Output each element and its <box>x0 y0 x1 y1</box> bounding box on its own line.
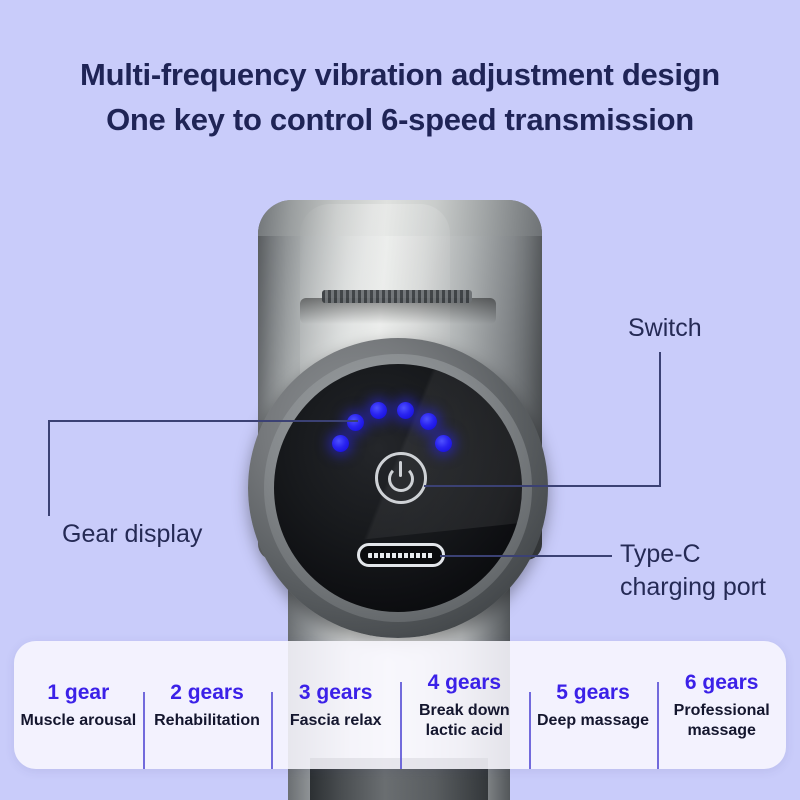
power-button[interactable] <box>375 452 427 504</box>
gear-desc-1: Muscle arousal <box>18 711 139 731</box>
leader-typec-horizontal <box>440 555 612 557</box>
device-barrel-top-rim <box>258 200 542 236</box>
gear-number-6: 6 gears <box>661 670 782 696</box>
gear-item-5: 5 gears Deep massage <box>529 680 658 731</box>
product-infographic: Multi-frequency vibration adjustment des… <box>0 0 800 800</box>
leader-gear-display-vertical <box>48 420 50 516</box>
leader-switch-horizontal <box>424 485 661 487</box>
gear-number-2: 2 gears <box>147 680 268 706</box>
gear-led-1 <box>332 435 349 452</box>
gear-item-6: 6 gears Professionalmassage <box>657 670 786 741</box>
gear-led-4 <box>397 402 414 419</box>
device-knurled-band <box>322 290 472 303</box>
gear-number-4: 4 gears <box>404 670 525 696</box>
usb-type-c-pins <box>368 553 434 558</box>
callout-typec-line-2: charging port <box>620 571 766 604</box>
gear-item-4: 4 gears Break downlactic acid <box>400 670 529 741</box>
headline: Multi-frequency vibration adjustment des… <box>0 52 800 142</box>
callout-typec-line-1: Type-C <box>620 538 766 571</box>
leader-switch-vertical <box>659 352 661 486</box>
gear-desc-2: Rehabilitation <box>147 711 268 731</box>
gear-desc-3: Fascia relax <box>275 711 396 731</box>
gear-item-1: 1 gear Muscle arousal <box>14 680 143 731</box>
callout-gear-display: Gear display <box>62 518 202 551</box>
headline-line-2: One key to control 6-speed transmission <box>0 97 800 142</box>
power-icon-bar <box>399 461 402 477</box>
gear-number-1: 1 gear <box>18 680 139 706</box>
gear-led-6 <box>435 435 452 452</box>
gear-item-2: 2 gears Rehabilitation <box>143 680 272 731</box>
gear-item-3: 3 gears Fascia relax <box>271 680 400 731</box>
gear-desc-4: Break downlactic acid <box>404 701 525 741</box>
gear-number-3: 3 gears <box>275 680 396 706</box>
gear-legend-panel: 1 gear Muscle arousal 2 gears Rehabilita… <box>14 641 786 769</box>
gear-desc-6: Professionalmassage <box>661 701 782 741</box>
gear-desc-5: Deep massage <box>533 711 654 731</box>
headline-line-1: Multi-frequency vibration adjustment des… <box>0 52 800 97</box>
gear-led-2 <box>347 414 364 431</box>
callout-switch: Switch <box>628 312 702 345</box>
usb-type-c-icon <box>357 543 445 567</box>
gear-number-5: 5 gears <box>533 680 654 706</box>
gear-led-3 <box>370 402 387 419</box>
gear-led-5 <box>420 413 437 430</box>
callout-typec: Type-C charging port <box>620 538 766 604</box>
leader-gear-display-horizontal <box>48 420 358 422</box>
